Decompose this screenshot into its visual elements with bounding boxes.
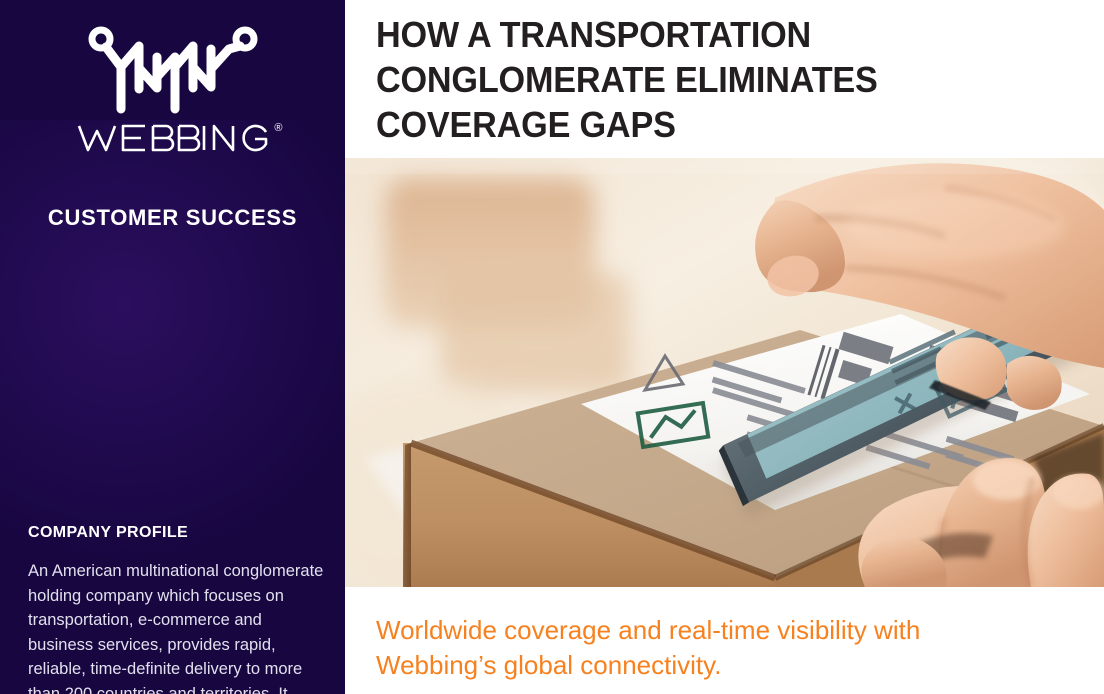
brand-logo: ® <box>0 24 345 159</box>
sidebar: ® CUSTOMER SUCCESS COMPANY PROFILE An Am… <box>0 0 345 694</box>
eyebrow-customer-success: CUSTOMER SUCCESS <box>0 205 345 231</box>
wordmark-wrap: ® <box>76 122 270 154</box>
package-scanning-photo-illustration <box>345 158 1104 587</box>
hero-subtitle: Worldwide coverage and real-time visibil… <box>376 613 1086 683</box>
webbing-wordmark-icon <box>76 122 270 154</box>
case-study-cover-page: ® CUSTOMER SUCCESS COMPANY PROFILE An Am… <box>0 0 1104 694</box>
registered-trademark-symbol: ® <box>274 123 282 134</box>
webbing-w-logo-icon <box>80 24 266 120</box>
company-profile-body: An American multinational conglomerate h… <box>28 559 328 694</box>
page-headline: HOW A TRANSPORTATION CONGLOMERATE ELIMIN… <box>376 12 1041 147</box>
hero-image <box>345 158 1104 587</box>
company-profile-heading: COMPANY PROFILE <box>28 524 188 542</box>
